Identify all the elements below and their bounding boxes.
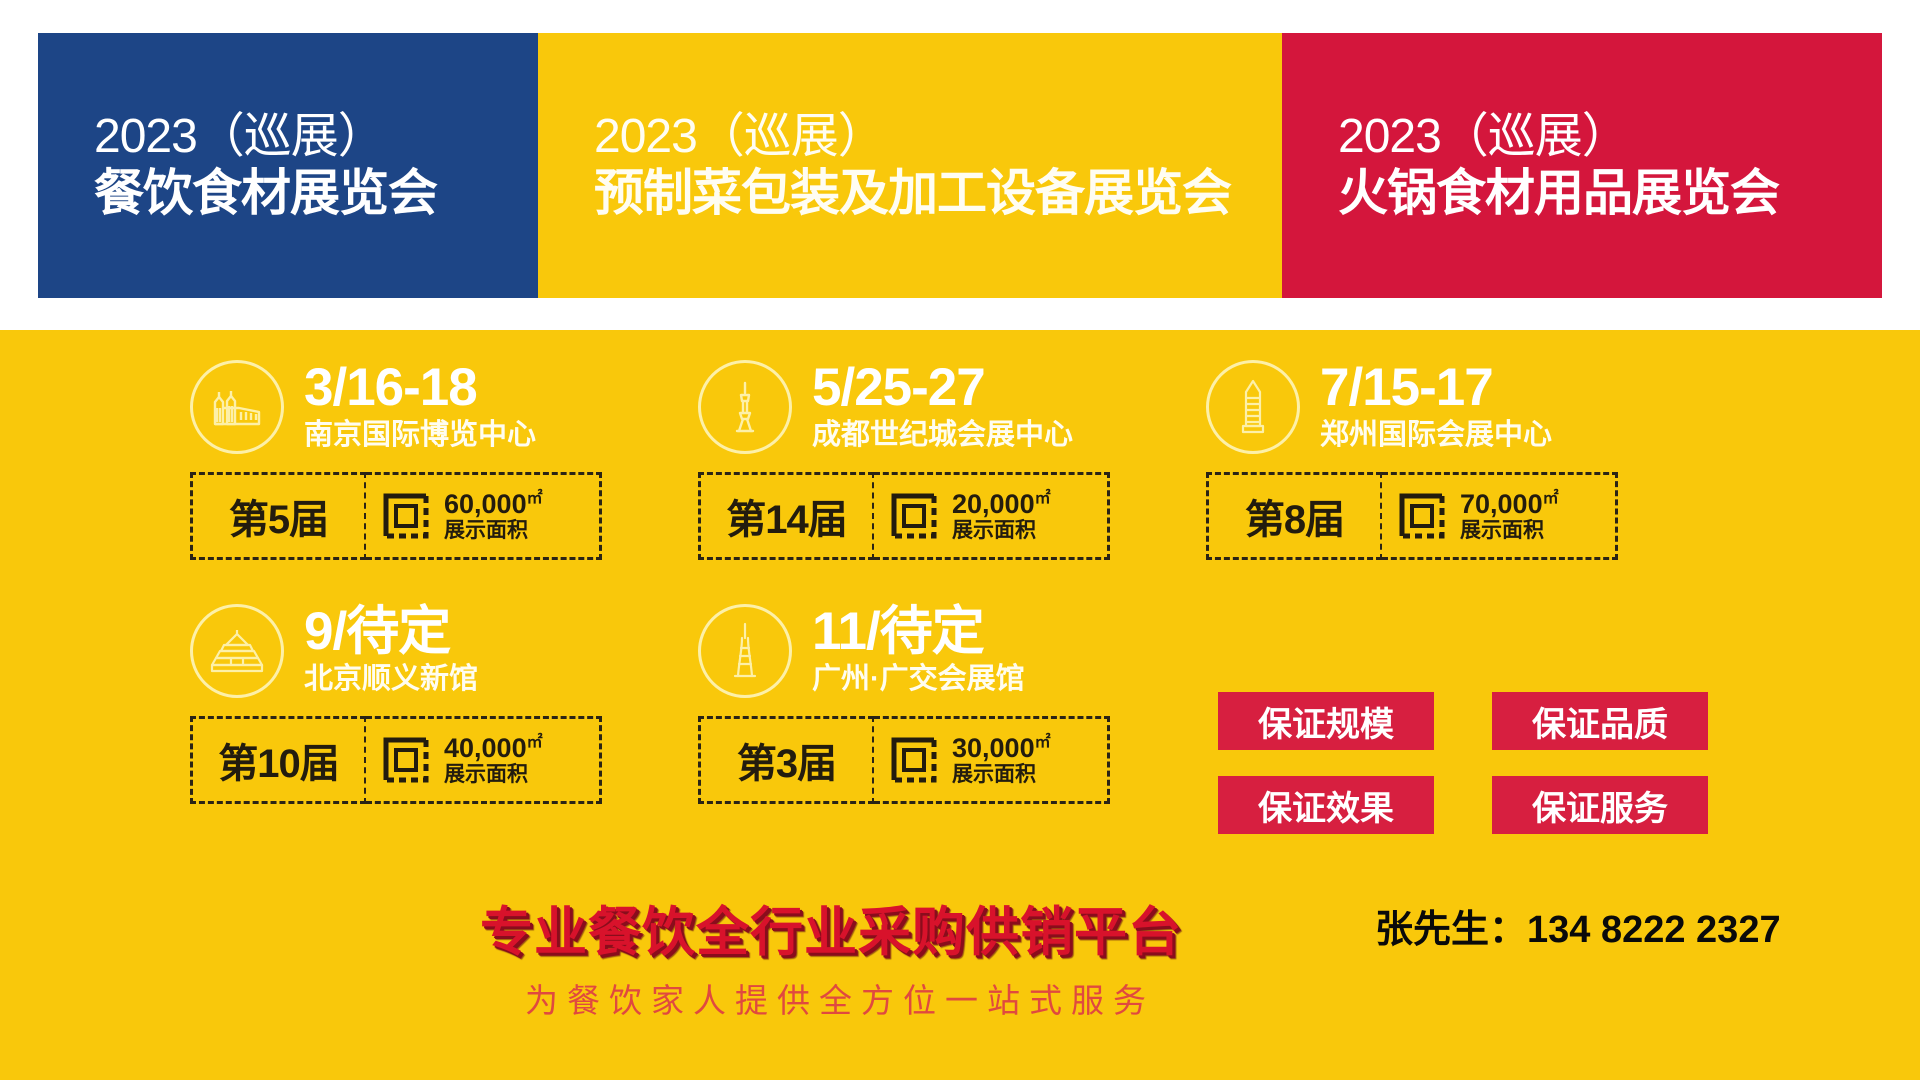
city-date: 5/25-27: [812, 361, 1073, 415]
area-value: 20,000㎡: [952, 489, 1051, 519]
guarantee-button-scale[interactable]: 保证规模: [1218, 692, 1434, 750]
panel-year-line: 2023（巡展）: [94, 109, 538, 165]
city-text-block: 7/15-17 郑州国际会展中心: [1320, 361, 1552, 453]
city-header: 11/待定 广州·广交会展馆: [698, 604, 1110, 698]
contact-phone[interactable]: 张先生：134 8222 2327: [1375, 898, 1781, 953]
floor-area-icon: [380, 490, 432, 542]
edition-badge: 第14届: [698, 472, 874, 560]
city-card[interactable]: 11/待定 广州·广交会展馆 第3届: [698, 604, 1110, 804]
panel-title-line: 火锅食材用品展览会: [1338, 165, 1882, 222]
city-header: 5/25-27 成都世纪城会展中心: [698, 360, 1110, 454]
edition-label: 第8届: [1245, 487, 1344, 545]
header-panel-catering-ingredients[interactable]: 2023（巡展） 餐饮食材展览会: [38, 33, 538, 298]
city-badges: 第14届: [698, 472, 1110, 560]
city-date: 9/待定: [304, 605, 478, 659]
area-text-block: 20,000㎡ 展示面积: [952, 490, 1051, 542]
city-text-block: 3/16-18 南京国际博览中心: [304, 361, 536, 453]
city-venue: 北京顺义新馆: [304, 661, 478, 697]
edition-badge: 第8届: [1206, 472, 1382, 560]
floor-area-icon: [888, 490, 940, 542]
area-label: 展示面积: [1460, 519, 1559, 542]
tagline-primary: 专业餐饮全行业采购供销平台: [480, 890, 1182, 966]
panel-title-line: 餐饮食材展览会: [94, 165, 538, 222]
chengdu-tower-icon: [698, 360, 792, 454]
area-value: 60,000㎡: [444, 489, 543, 519]
city-date: 7/15-17: [1320, 361, 1552, 415]
area-badge: 30,000㎡ 展示面积: [874, 716, 1110, 804]
edition-badge: 第5届: [190, 472, 366, 560]
city-text-block: 5/25-27 成都世纪城会展中心: [812, 361, 1073, 453]
city-badges: 第8届: [1206, 472, 1618, 560]
city-card[interactable]: 3/16-18 南京国际博览中心 第5届: [190, 360, 602, 560]
floor-area-icon: [1396, 490, 1448, 542]
guarantee-button-quality[interactable]: 保证品质: [1492, 692, 1708, 750]
guarantee-button-effect[interactable]: 保证效果: [1218, 776, 1434, 834]
city-header: 3/16-18 南京国际博览中心: [190, 360, 602, 454]
city-header: 7/15-17 郑州国际会展中心: [1206, 360, 1618, 454]
edition-label: 第3届: [737, 731, 836, 789]
area-badge: 60,000㎡ 展示面积: [366, 472, 602, 560]
area-badge: 20,000㎡ 展示面积: [874, 472, 1110, 560]
area-text-block: 40,000㎡ 展示面积: [444, 734, 543, 786]
guarantee-button-service[interactable]: 保证服务: [1492, 776, 1708, 834]
header-panel-prepared-dishes[interactable]: 2023（巡展） 预制菜包装及加工设备展览会: [538, 33, 1282, 298]
city-card[interactable]: 9/待定 北京顺义新馆 第10届: [190, 604, 602, 804]
city-badges: 第5届: [190, 472, 602, 560]
header-banner-strip: 2023（巡展） 餐饮食材展览会 2023（巡展） 预制菜包装及加工设备展览会 …: [0, 0, 1920, 330]
area-text-block: 70,000㎡ 展示面积: [1460, 490, 1559, 542]
main-yellow-section: 3/16-18 南京国际博览中心 第5届: [0, 330, 1920, 1080]
city-date: 3/16-18: [304, 361, 536, 415]
panel-title-line: 预制菜包装及加工设备展览会: [594, 165, 1282, 222]
edition-badge: 第3届: [698, 716, 874, 804]
edition-label: 第5届: [229, 487, 328, 545]
beijing-temple-of-heaven-icon: [190, 604, 284, 698]
city-card[interactable]: 5/25-27 成都世纪城会展中心 第14届: [698, 360, 1110, 560]
city-row-first: 3/16-18 南京国际博览中心 第5届: [190, 360, 1670, 560]
area-label: 展示面积: [444, 519, 543, 542]
city-text-block: 9/待定 北京顺义新馆: [304, 605, 478, 697]
city-header: 9/待定 北京顺义新馆: [190, 604, 602, 698]
header-panel-hotpot[interactable]: 2023（巡展） 火锅食材用品展览会: [1282, 33, 1882, 298]
city-date: 11/待定: [812, 605, 1025, 659]
city-venue: 广州·广交会展馆: [812, 661, 1025, 697]
edition-badge: 第10届: [190, 716, 366, 804]
edition-label: 第14届: [726, 487, 847, 545]
city-venue: 南京国际博览中心: [304, 417, 536, 453]
area-value: 70,000㎡: [1460, 489, 1559, 519]
city-text-block: 11/待定 广州·广交会展馆: [812, 605, 1025, 697]
area-value: 30,000㎡: [952, 733, 1051, 763]
area-value: 40,000㎡: [444, 733, 543, 763]
nanjing-landmark-icon: [190, 360, 284, 454]
guarantee-button-group: 保证规模 保证品质 保证效果 保证服务: [1218, 692, 1708, 834]
floor-area-icon: [380, 734, 432, 786]
panel-year-line: 2023（巡展）: [594, 109, 1282, 165]
city-badges: 第10届: [190, 716, 602, 804]
panel-year-line: 2023（巡展）: [1338, 109, 1882, 165]
area-text-block: 30,000㎡ 展示面积: [952, 734, 1051, 786]
area-text-block: 60,000㎡ 展示面积: [444, 490, 543, 542]
city-card[interactable]: 7/15-17 郑州国际会展中心 第8届: [1206, 360, 1618, 560]
guangzhou-tower-icon: [698, 604, 792, 698]
city-badges: 第3届: [698, 716, 1110, 804]
zhengzhou-pagoda-icon: [1206, 360, 1300, 454]
city-venue: 郑州国际会展中心: [1320, 417, 1552, 453]
edition-label: 第10届: [218, 731, 339, 789]
area-badge: 40,000㎡ 展示面积: [366, 716, 602, 804]
area-badge: 70,000㎡ 展示面积: [1382, 472, 1618, 560]
header-panels: 2023（巡展） 餐饮食材展览会 2023（巡展） 预制菜包装及加工设备展览会 …: [38, 33, 1882, 298]
tagline-secondary: 为餐饮家人提供全方位一站式服务: [525, 974, 1155, 1022]
area-label: 展示面积: [952, 763, 1051, 786]
floor-area-icon: [888, 734, 940, 786]
area-label: 展示面积: [952, 519, 1051, 542]
area-label: 展示面积: [444, 763, 543, 786]
city-venue: 成都世纪城会展中心: [812, 417, 1073, 453]
